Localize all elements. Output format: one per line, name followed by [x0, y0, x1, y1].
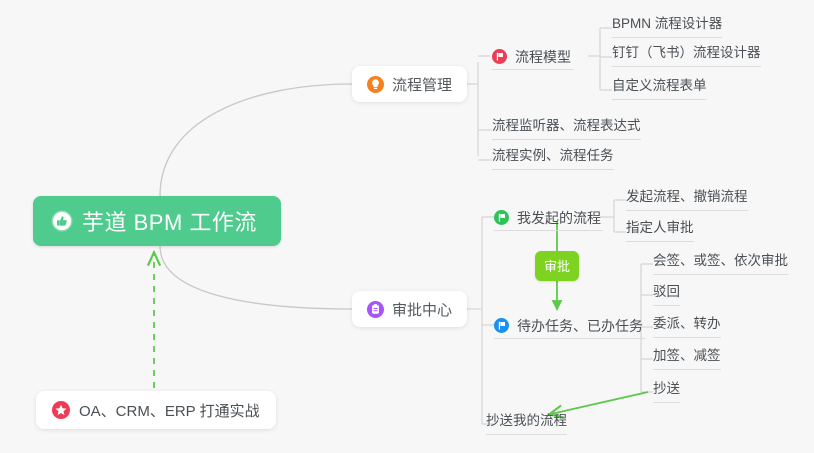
leaf-process-listener[interactable]: 流程监听器、流程表达式 — [492, 114, 641, 140]
node-process-model[interactable]: 流程模型 — [492, 44, 573, 70]
node-label: 待办任务、已办任务 — [517, 316, 643, 336]
leaf-process-instance[interactable]: 流程实例、流程任务 — [492, 144, 614, 170]
thumbs-up-icon — [51, 210, 73, 232]
leaf-cc[interactable]: 抄送 — [653, 377, 680, 403]
star-icon — [52, 401, 70, 419]
flag-icon — [492, 49, 507, 64]
root-label: 芋道 BPM 工作流 — [82, 205, 257, 237]
node-my-initiated[interactable]: 我发起的流程 — [494, 205, 603, 231]
leaf-delegate-transfer[interactable]: 委派、转办 — [653, 312, 721, 338]
flag-icon — [494, 318, 509, 333]
branch-label: 审批中心 — [392, 299, 452, 320]
branch-process-management[interactable]: 流程管理 — [352, 66, 467, 102]
node-label: 流程模型 — [515, 47, 571, 67]
leaf-countersign[interactable]: 会签、或签、依次审批 — [653, 249, 788, 275]
approval-tag-label: 审批 — [544, 259, 570, 274]
node-todo-done-tasks[interactable]: 待办任务、已办任务 — [494, 313, 645, 339]
leaf-cc-to-me[interactable]: 抄送我的流程 — [486, 409, 567, 435]
callout-label: OA、CRM、ERP 打通实战 — [79, 400, 260, 421]
leaf-reject[interactable]: 驳回 — [653, 280, 680, 306]
leaf-start-cancel-process[interactable]: 发起流程、撤销流程 — [626, 185, 748, 211]
flag-icon — [494, 210, 509, 225]
callout-integration[interactable]: OA、CRM、ERP 打通实战 — [36, 391, 276, 429]
lightbulb-icon — [367, 76, 384, 93]
approval-tag: 审批 — [535, 251, 579, 281]
root-node[interactable]: 芋道 BPM 工作流 — [33, 196, 281, 246]
leaf-bpmn-designer[interactable]: BPMN 流程设计器 — [612, 12, 722, 38]
branch-approval-center[interactable]: 审批中心 — [352, 291, 467, 327]
leaf-custom-form[interactable]: 自定义流程表单 — [612, 74, 707, 100]
leaf-dingtalk-designer[interactable]: 钉钉（飞书）流程设计器 — [612, 41, 761, 67]
leaf-assigned-approval[interactable]: 指定人审批 — [626, 216, 694, 242]
node-label: 我发起的流程 — [517, 208, 601, 228]
mindmap-canvas: 芋道 BPM 工作流 流程管理 流程模型 BPMN 流程设计器 钉钉（飞书）流程… — [0, 0, 814, 453]
clipboard-icon — [367, 301, 384, 318]
branch-label: 流程管理 — [392, 74, 452, 95]
leaf-add-remove-sign[interactable]: 加签、减签 — [653, 344, 721, 370]
